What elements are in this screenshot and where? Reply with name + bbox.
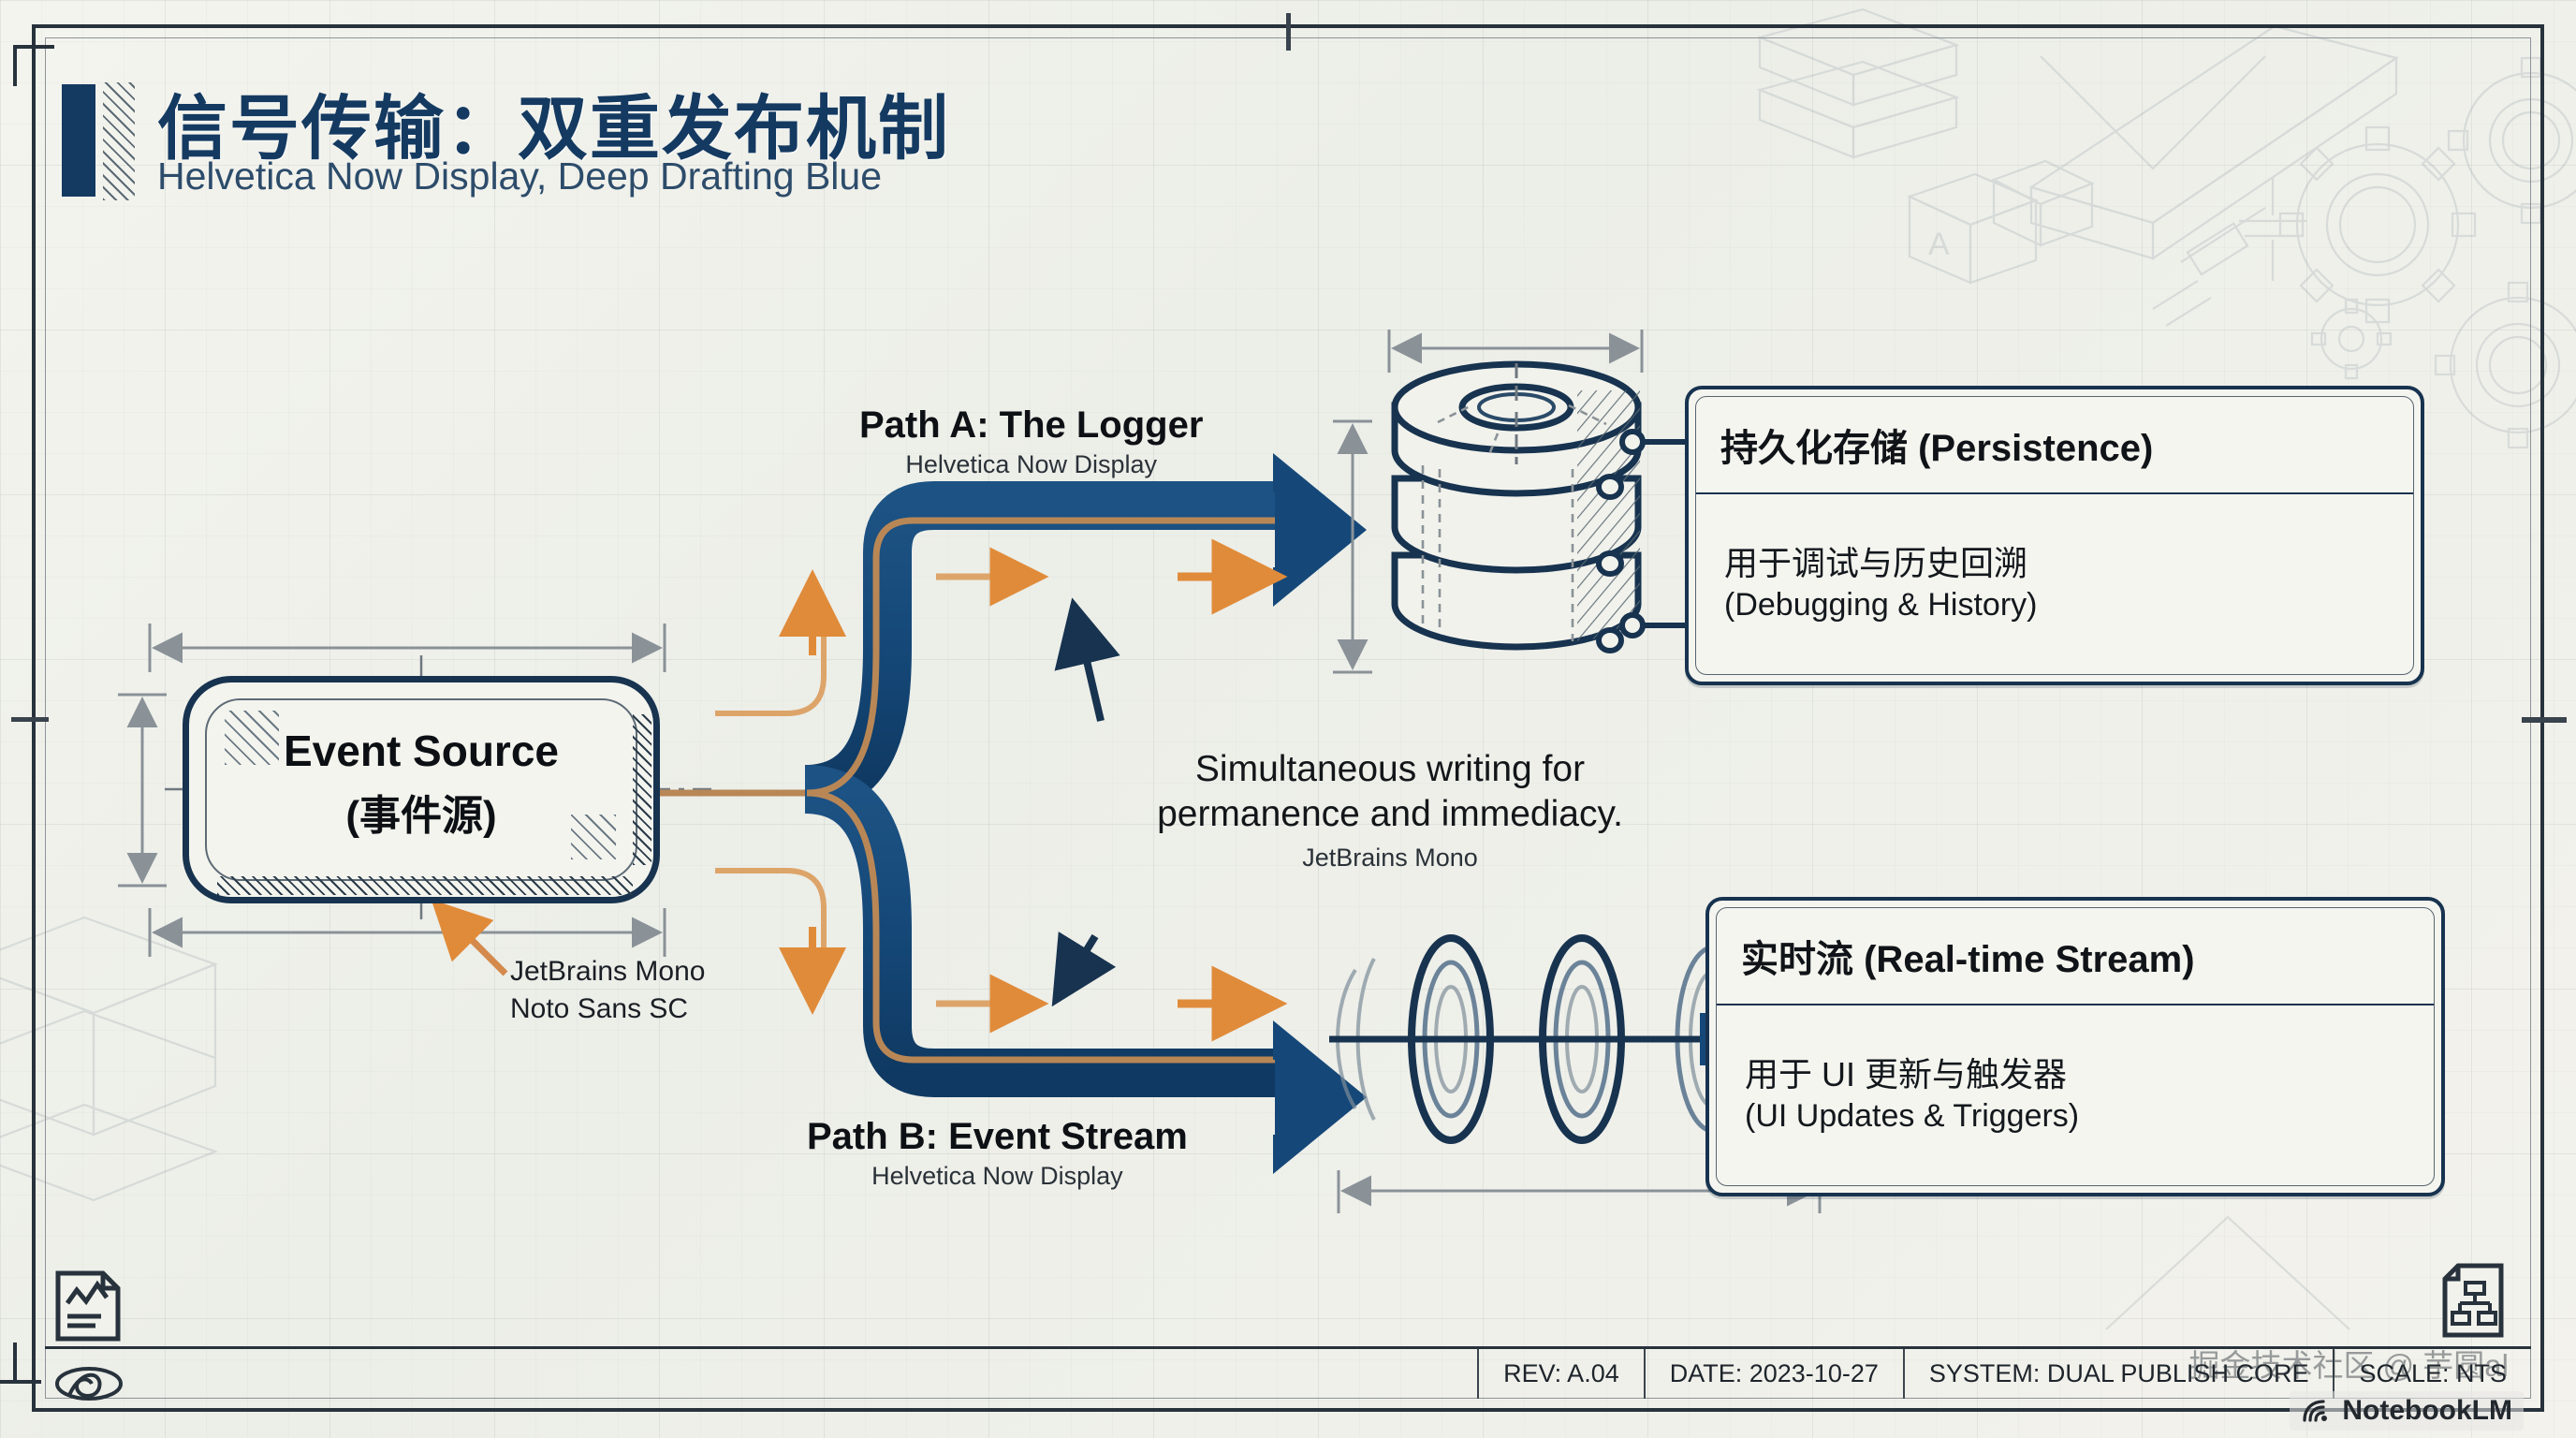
event-source-label-zh: (事件源) [189, 782, 653, 842]
flowchart-document-icon[interactable] [2441, 1262, 2505, 1339]
simultaneity-note-line2: permanence and immediacy. [1114, 792, 1666, 837]
source-font-annotation-line2: Noto Sans SC [510, 990, 705, 1028]
path-b-font-note: Helvetica Now Display [807, 1162, 1188, 1191]
path-a-font-note: Helvetica Now Display [859, 450, 1203, 479]
footer-cell-revision: REV: A.04 [1477, 1349, 1644, 1399]
persistence-card-header: 持久化存储 (Persistence) [1696, 397, 2413, 494]
source-annotation-leader [438, 906, 505, 974]
notebooklm-logo-icon [2301, 1398, 2333, 1424]
persistence-body-zh: 用于调试与历史回溯 [1724, 542, 2385, 585]
persistence-card[interactable]: 持久化存储 (Persistence) 用于调试与历史回溯 (Debugging… [1685, 386, 2424, 685]
chart-document-icon[interactable] [54, 1269, 122, 1343]
event-source-bottom-hatch [217, 876, 633, 895]
simultaneity-note-font: JetBrains Mono [1114, 844, 1666, 873]
persistence-card-inner: 持久化存储 (Persistence) 用于调试与历史回溯 (Debugging… [1695, 396, 2414, 675]
notebooklm-watermark: NotebookLM [2290, 1391, 2524, 1431]
realtime-stream-body-en: (UI Updates & Triggers) [1745, 1096, 2406, 1137]
path-b-label: Path B: Event Stream [807, 1116, 1188, 1158]
event-source-label-en: Event Source [189, 726, 653, 776]
community-watermark: 掘金技术社区 @ 芋圆al [2188, 1341, 2509, 1386]
source-font-annotation-line1: JetBrains Mono [510, 953, 705, 990]
blueprint-canvas: A [0, 0, 2576, 1438]
path-a-label-group: Path A: The Logger Helvetica Now Display [859, 404, 1203, 479]
event-source-node[interactable]: Event Source (事件源) [183, 676, 660, 903]
simultaneity-note-line1: Simultaneous writing for [1114, 747, 1666, 792]
persistence-body-en: (Debugging & History) [1724, 585, 2385, 626]
realtime-stream-body-zh: 用于 UI 更新与触发器 [1745, 1053, 2406, 1096]
realtime-stream-card[interactable]: 实时流 (Real-time Stream) 用于 UI 更新与触发器 (UI … [1705, 897, 2445, 1196]
realtime-stream-card-body: 用于 UI 更新与触发器 (UI Updates & Triggers) [1717, 1005, 2434, 1185]
realtime-stream-card-inner: 实时流 (Real-time Stream) 用于 UI 更新与触发器 (UI … [1716, 907, 2435, 1186]
drawing-title-block-footer: REV: A.04 DATE: 2023-10-27 SYSTEM: DUAL … [45, 1346, 2531, 1399]
persistence-title: 持久化存储 (Persistence) [1720, 418, 2153, 472]
simultaneity-callout-arrow [1058, 609, 1101, 997]
path-a-label: Path A: The Logger [859, 404, 1203, 447]
realtime-stream-title: 实时流 (Real-time Stream) [1741, 929, 2195, 983]
event-source-label-group: Event Source (事件源) [189, 726, 653, 842]
path-b-label-group: Path B: Event Stream Helvetica Now Displ… [807, 1116, 1188, 1191]
persistence-card-body: 用于调试与历史回溯 (Debugging & History) [1696, 494, 2413, 674]
footer-cell-date: DATE: 2023-10-27 [1644, 1349, 1903, 1399]
notebooklm-label: NotebookLM [2342, 1395, 2512, 1427]
realtime-stream-card-header: 实时流 (Real-time Stream) [1717, 908, 2434, 1005]
simultaneity-note: Simultaneous writing for permanence and … [1114, 747, 1666, 873]
source-font-annotation: JetBrains Mono Noto Sans SC [510, 953, 705, 1028]
